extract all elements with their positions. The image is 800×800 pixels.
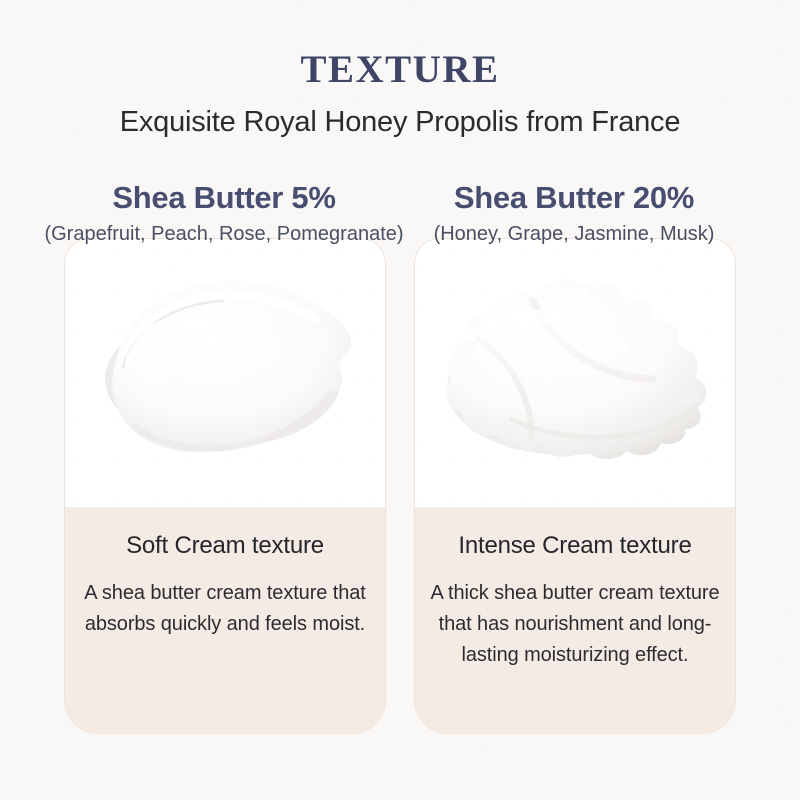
- texture-card-shea-butter-20: Intense Cream texture A thick shea butte…: [414, 238, 736, 734]
- page-header: TEXTURE Exquisite Royal Honey Propolis f…: [0, 0, 800, 137]
- description-area-left: Soft Cream texture A shea butter cream t…: [65, 507, 385, 733]
- card-scent-notes: (Grapefruit, Peach, Rose, Pomegranate): [44, 215, 404, 248]
- swatch-area-right: [415, 239, 735, 507]
- page-title: TEXTURE: [0, 0, 800, 89]
- swatch-area-left: [65, 239, 385, 507]
- soft-cream-swatch-icon: [65, 239, 385, 507]
- description-body: A shea butter cream texture that absorbs…: [65, 560, 385, 640]
- card-heading-right: Shea Butter 20% (Honey, Grape, Jasmine, …: [394, 182, 754, 248]
- card-title: Shea Butter 20%: [394, 182, 754, 215]
- intense-cream-swatch-icon: [415, 239, 735, 507]
- description-body: A thick shea butter cream texture that h…: [415, 560, 735, 671]
- description-area-right: Intense Cream texture A thick shea butte…: [415, 507, 735, 733]
- page-subtitle: Exquisite Royal Honey Propolis from Fran…: [0, 89, 800, 137]
- texture-card-shea-butter-5: Soft Cream texture A shea butter cream t…: [64, 238, 386, 734]
- card-scent-notes: (Honey, Grape, Jasmine, Musk): [394, 215, 754, 248]
- card-title: Shea Butter 5%: [44, 182, 404, 215]
- card-heading-left: Shea Butter 5% (Grapefruit, Peach, Rose,…: [44, 182, 404, 248]
- description-title: Soft Cream texture: [65, 507, 385, 560]
- texture-comparison-cards: Soft Cream texture A shea butter cream t…: [0, 238, 800, 738]
- description-title: Intense Cream texture: [415, 507, 735, 560]
